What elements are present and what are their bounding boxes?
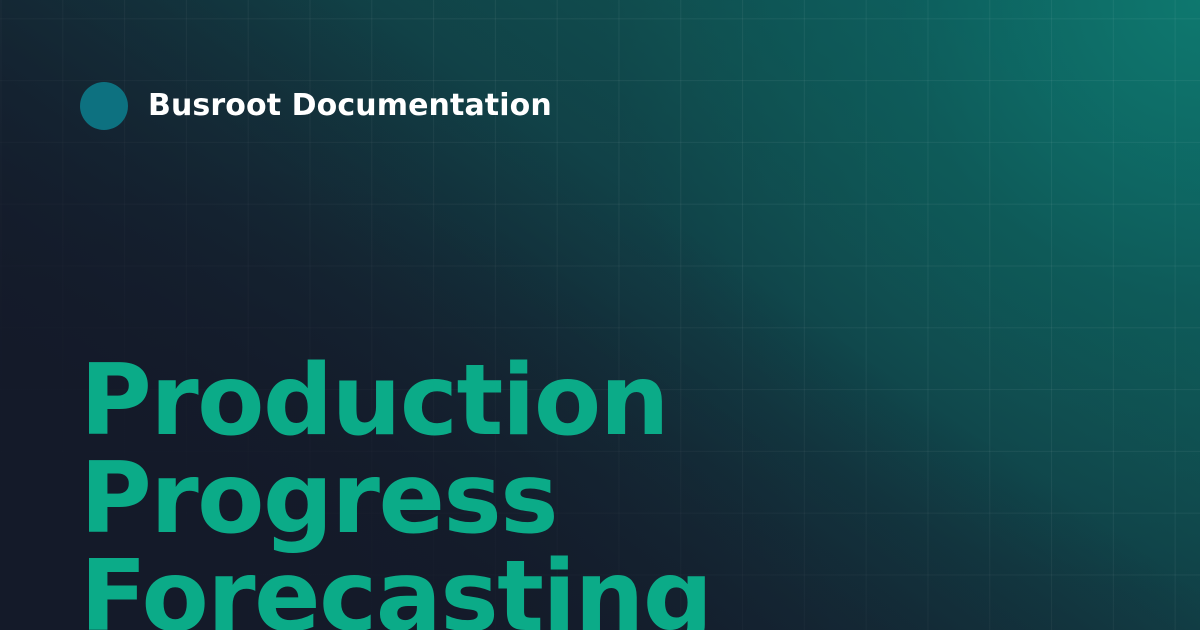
card-content: Busroot Documentation Production Progres… xyxy=(0,0,1200,630)
brand-name-label: Busroot Documentation xyxy=(148,91,552,121)
circle-logo-icon xyxy=(80,82,128,130)
og-share-card: Busroot Documentation Production Progres… xyxy=(0,0,1200,630)
page-title-line-1: Production Progress xyxy=(80,352,1090,548)
page-title-line-2: Forecasting xyxy=(80,548,1090,630)
page-title: Production Progress Forecasting xyxy=(80,352,1090,630)
brand-lockup: Busroot Documentation xyxy=(80,82,552,130)
